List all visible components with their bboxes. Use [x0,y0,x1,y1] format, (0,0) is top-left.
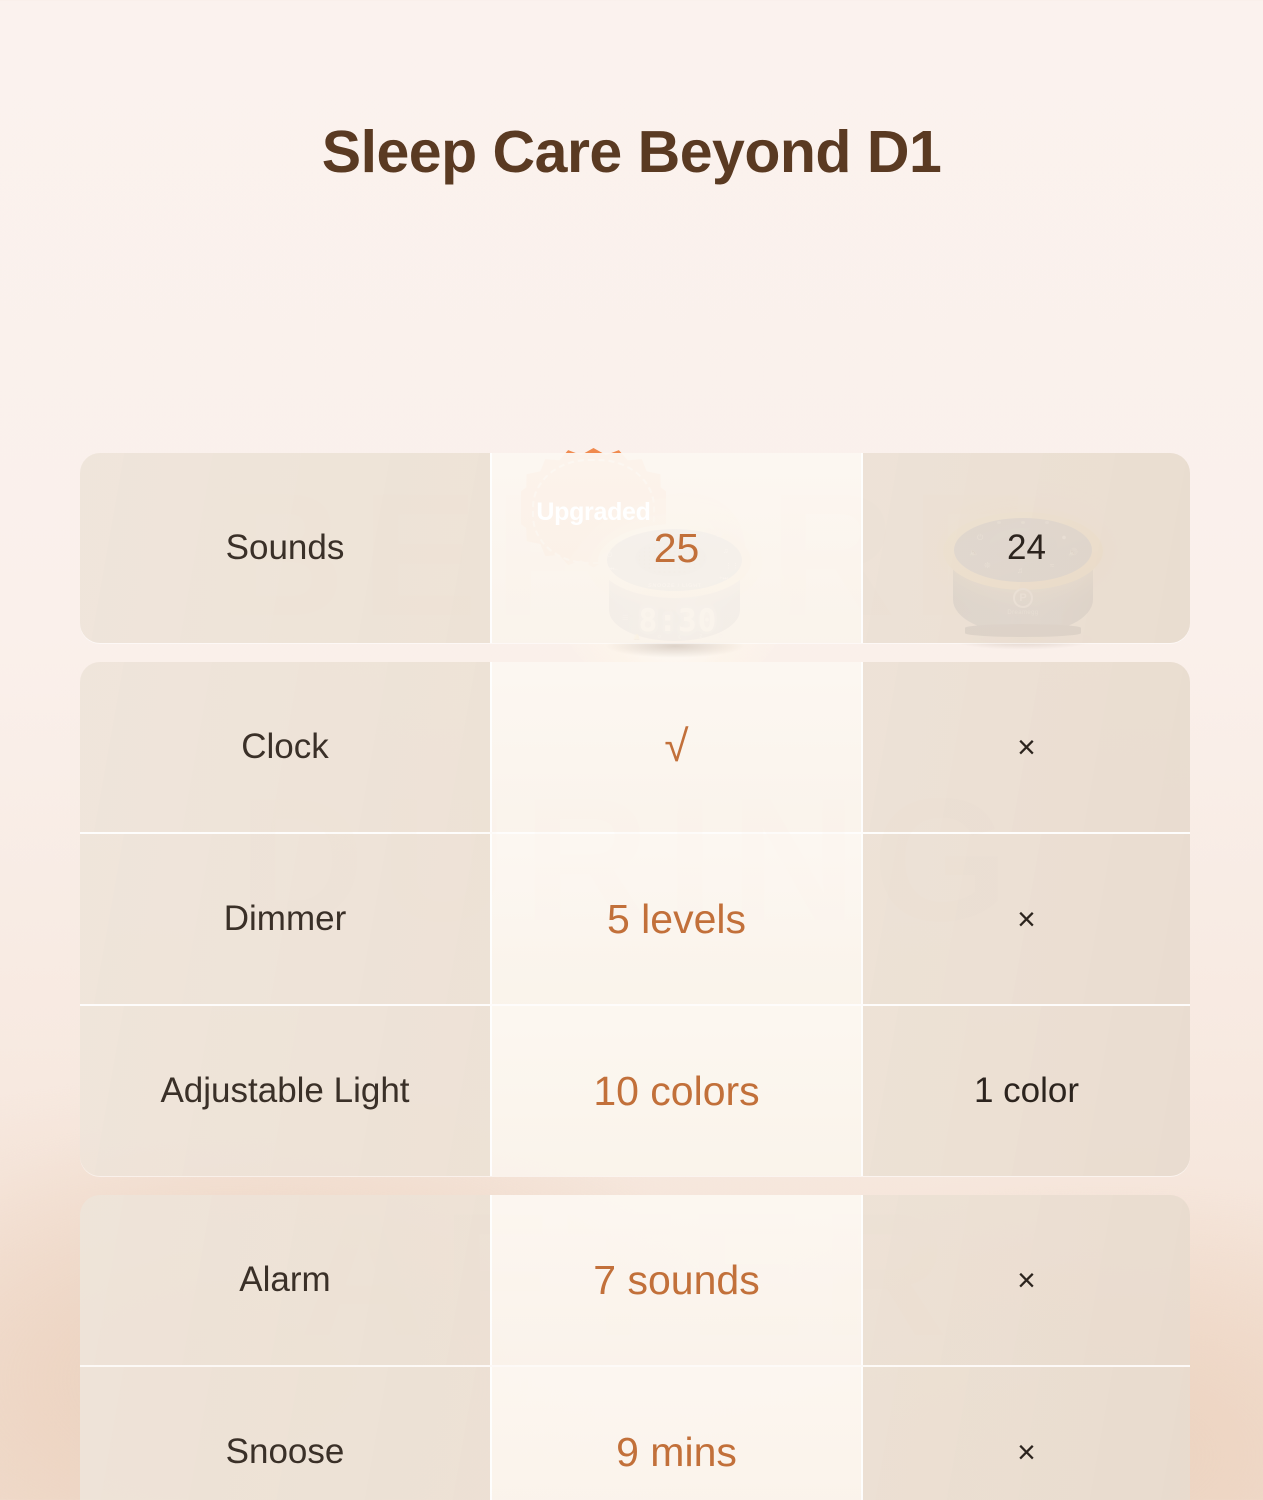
feature-label-cell: Alarm [80,1195,490,1365]
new-product-value-cell: 10 colors [490,1006,863,1176]
feature-label-cell: Sounds [80,453,490,643]
upgraded-badge-label: Upgraded [536,498,650,527]
old-product-value-cell: 1 color [863,1006,1190,1176]
feature-label-cell: Dimmer [80,834,490,1004]
old-product-value-cell: × [863,1367,1190,1500]
new-product-value-cell: √ [490,662,863,832]
feature-label-cell: Snoose [80,1367,490,1500]
table-row: Clock √ × [80,662,1190,832]
page-title: Sleep Care Beyond D1 [0,118,1263,186]
feature-label-cell: Clock [80,662,490,832]
old-product-value-cell: × [863,662,1190,832]
new-product-value-cell: 5 levels [490,834,863,1004]
table-row: Snoose 9 mins × [80,1365,1190,1500]
old-product-value-cell: 24 [863,453,1190,643]
old-product-value-cell: × [863,1195,1190,1365]
new-product-value-cell: 7 sounds [490,1195,863,1365]
table-row: Alarm 7 sounds × [80,1195,1190,1365]
old-product-value-cell: × [863,834,1190,1004]
feature-label-cell: Adjustable Light [80,1006,490,1176]
new-product-value-cell: 25 [490,453,863,643]
comparison-group: Sounds 25 24 [80,453,1190,643]
table-row: Dimmer 5 levels × [80,832,1190,1004]
product-showcase: Upgraded ☼ ⏻ ♫ ⋮⋮ ❊ ⏱ ⏮− +⏭ SNOOZE / LIG… [0,222,1263,454]
comparison-group: Alarm 7 sounds × Snoose 9 mins × [80,1195,1190,1500]
new-product-value-cell: 9 mins [490,1367,863,1500]
table-row: Sounds 25 24 [80,453,1190,643]
comparison-group: Clock √ × Dimmer 5 levels × Adjustable L… [80,662,1190,1176]
table-row: Adjustable Light 10 colors 1 color [80,1004,1190,1176]
comparison-table: Sounds 25 24 Clock √ × Dimmer 5 levels ×… [80,453,1190,1500]
